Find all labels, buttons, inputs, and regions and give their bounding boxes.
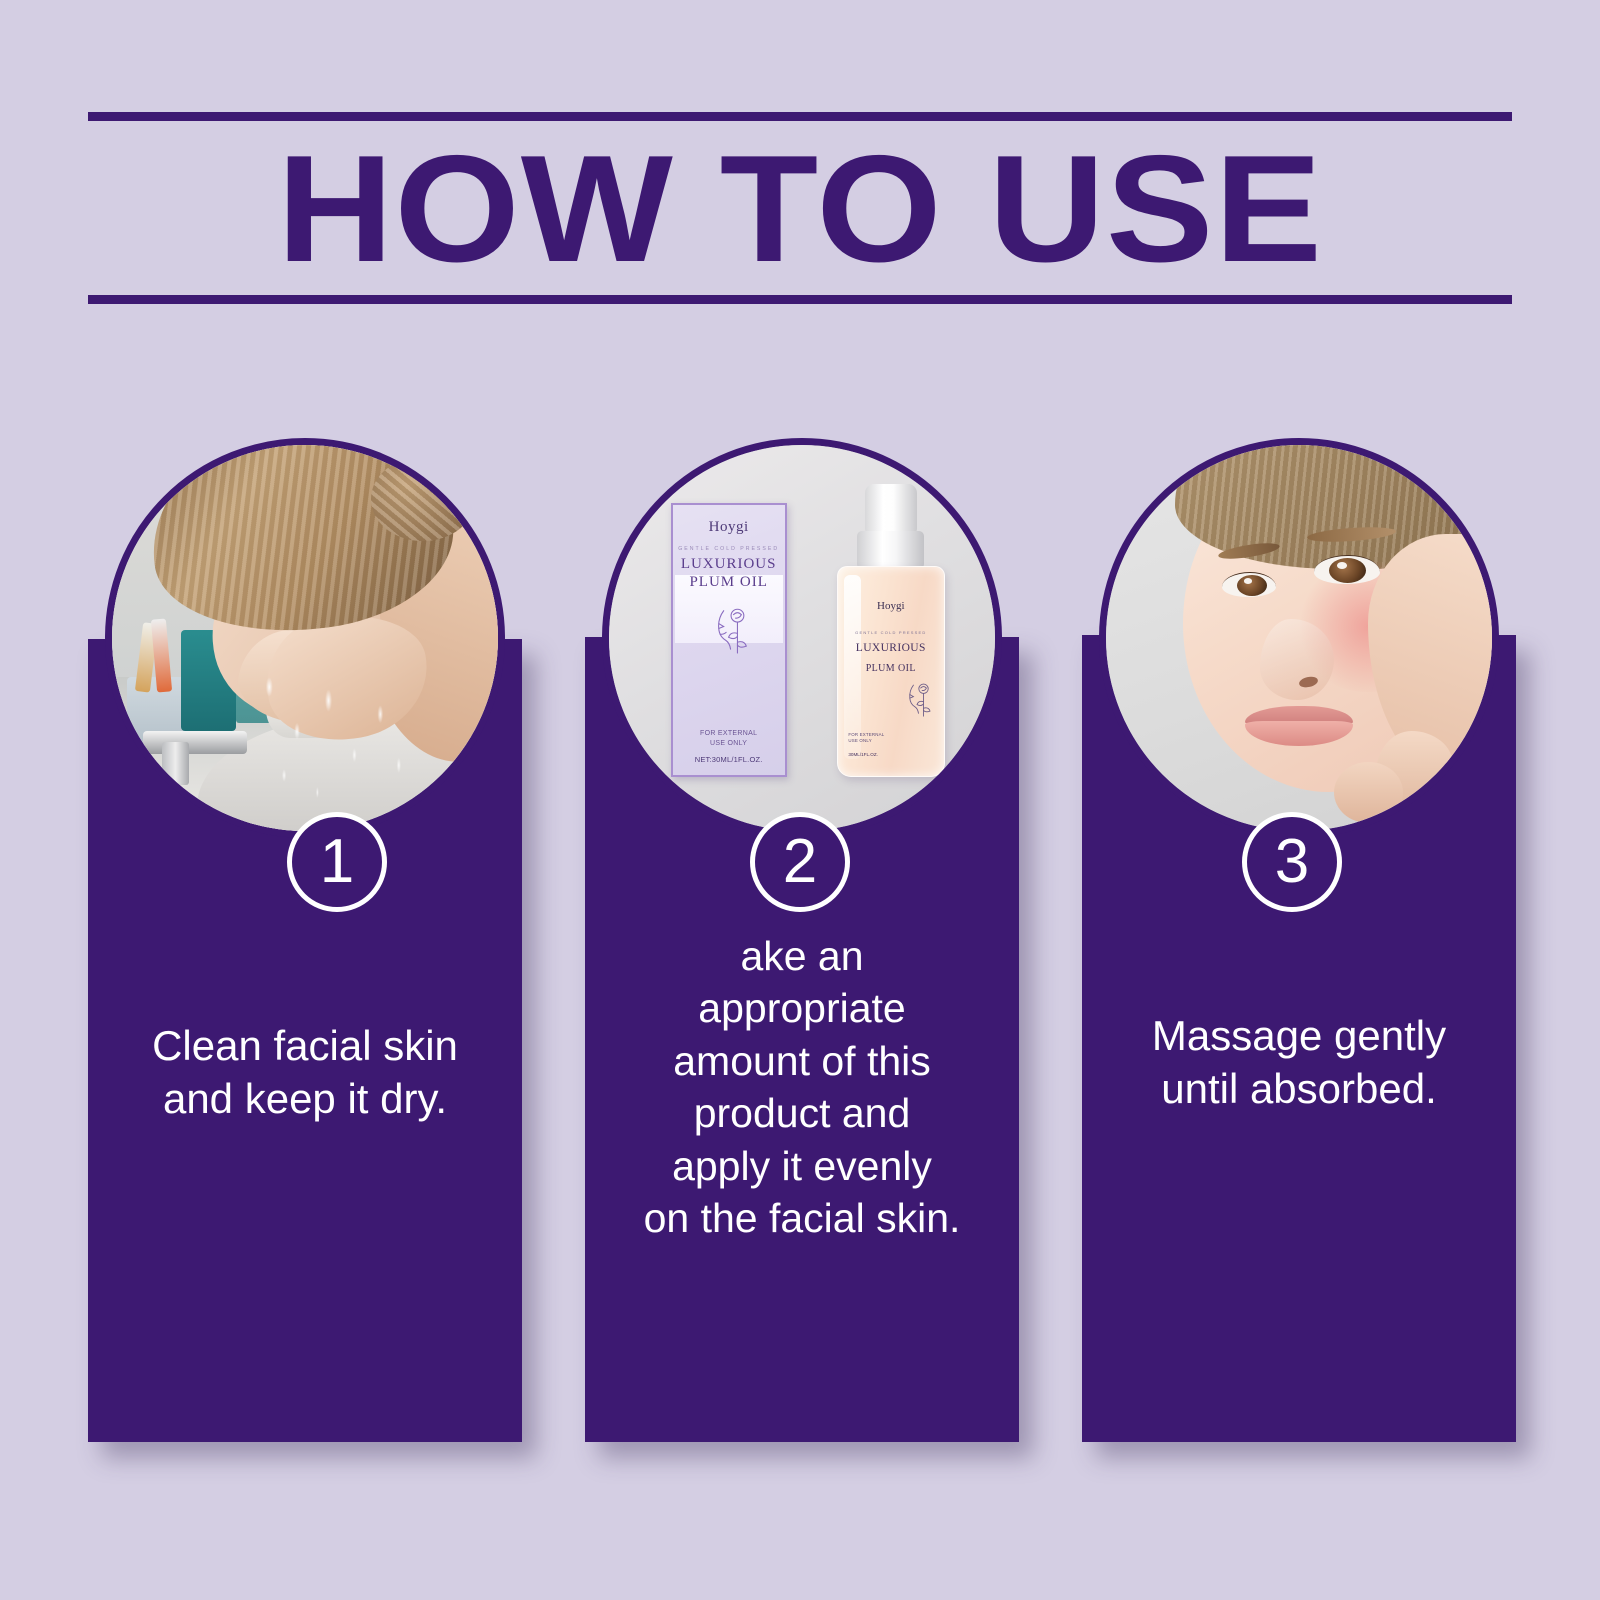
step-photo-2: Hoygi Gentle Cold Pressed LUXURIOUS PLUM… [602,438,1002,838]
page-title: HOW TO USE [45,128,1554,290]
carton-tagline: Gentle Cold Pressed [678,546,779,552]
step-number-badge-2: 2 [750,812,850,912]
bottle-external-use: FOR EXTERNAL USE ONLY [848,732,884,744]
bottle-rose-face-line-art-icon [899,671,935,730]
woman-touching-cheek-photo [1106,445,1492,831]
carton-name-line2: PLUM OIL [689,574,767,591]
step-caption-1: Clean facial skin and keep it dry. [94,1020,516,1126]
step-caption-2: ake an appropriate amount of this produc… [591,930,1013,1245]
carton-name-line1: LUXURIOUS [681,556,777,573]
carton-external-use: FOR EXTERNAL USE ONLY [673,729,785,748]
step-number-badge-3: 3 [1242,812,1342,912]
header-banner: HOW TO USE [88,112,1512,304]
step-card-1: 1 Clean facial skin and keep it dry. [88,430,522,1442]
header-top-rule [88,112,1512,121]
carton-net-contents: NET:30ML/1FL.OZ. [673,755,785,764]
step-card-3: 3 Massage gently until absorbed. [1082,430,1516,1442]
header-bottom-rule [88,295,1512,304]
bottle-tagline: Gentle Cold Pressed [838,630,944,635]
bottle-collar [857,531,924,569]
product-carton: Hoygi Gentle Cold Pressed LUXURIOUS PLUM… [671,503,787,777]
step-photo-1 [105,438,505,838]
bottle-net-contents: 30ML/1FL.OZ. [848,752,878,757]
step-photo-3 [1099,438,1499,838]
woman-washing-face-photo [112,445,498,831]
bottle-name-line1: LUXURIOUS [838,642,944,654]
rose-face-line-art-icon [704,599,753,664]
step-card-2: Hoygi Gentle Cold Pressed LUXURIOUS PLUM… [585,430,1019,1442]
product-box-and-bottle-photo: Hoygi Gentle Cold Pressed LUXURIOUS PLUM… [609,445,995,831]
product-bottle: Hoygi Gentle Cold Pressed LUXURIOUS PLUM… [837,484,945,777]
bottle-body: Hoygi Gentle Cold Pressed LUXURIOUS PLUM… [837,566,945,777]
bottle-dropper-cap [865,484,917,534]
bottle-brand: Hoygi [838,600,944,612]
step-caption-3: Massage gently until absorbed. [1088,1010,1510,1116]
carton-brand: Hoygi [709,519,749,536]
steps-row: 1 Clean facial skin and keep it dry. Hoy… [0,430,1600,1460]
step-number-badge-1: 1 [287,812,387,912]
